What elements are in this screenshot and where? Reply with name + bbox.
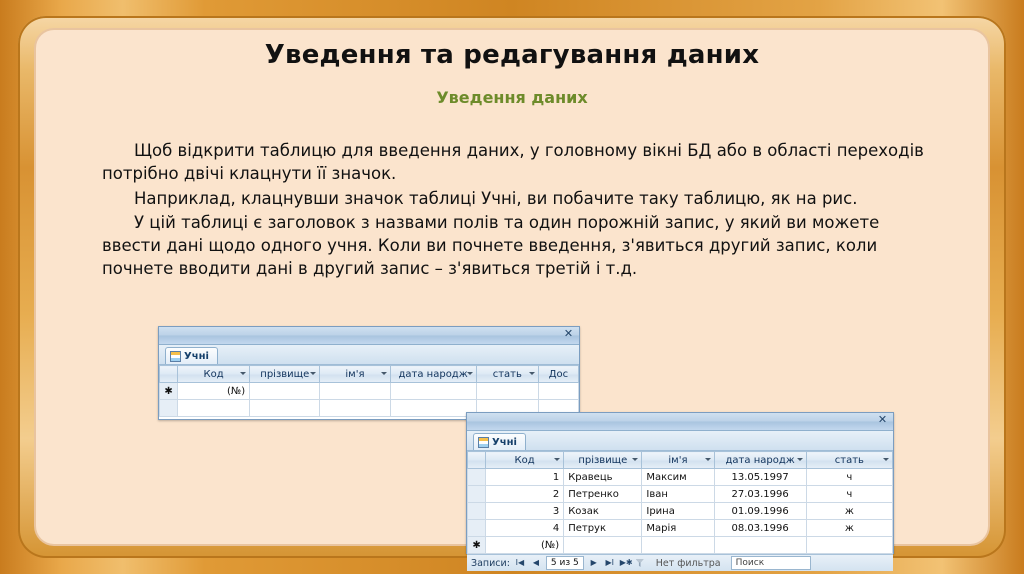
cell-prizvyshche[interactable]: Козак <box>564 503 642 520</box>
column-header-imya[interactable]: ім'я <box>320 366 390 383</box>
cell-data-narodzh[interactable]: 08.03.1996 <box>714 520 806 537</box>
row-selector[interactable] <box>468 520 486 537</box>
row-selector[interactable] <box>468 469 486 486</box>
cell-stat[interactable]: ж <box>806 520 892 537</box>
cell-kod[interactable]: 4 <box>486 520 564 537</box>
cell-dos[interactable] <box>538 383 578 400</box>
cell-data-narodzh[interactable] <box>390 383 476 400</box>
close-icon[interactable]: ✕ <box>876 414 889 427</box>
filter-icon <box>636 559 644 567</box>
records-label: Записи: <box>471 558 510 569</box>
filter-status-label[interactable]: Нет фильтра <box>656 558 721 569</box>
window-titlebar: ✕ <box>159 327 579 345</box>
cell-blank <box>178 400 250 417</box>
table-row[interactable]: 1 Кравець Максим 13.05.1997 ч <box>468 469 893 486</box>
row-selector-header <box>468 452 486 469</box>
cell-blank <box>250 400 320 417</box>
paragraph-1: Щоб відкрити таблицю для введення даних,… <box>102 140 928 186</box>
cell-prizvyshche[interactable] <box>564 537 642 554</box>
column-header-kod[interactable]: Код <box>486 452 564 469</box>
cell-stat[interactable] <box>806 537 892 554</box>
table-icon <box>170 351 181 362</box>
row-selector-blank <box>160 400 178 417</box>
window-tabstrip: Учні <box>467 431 893 451</box>
access-window-empty[interactable]: ✕ Учні Код прізвище ім'я дата нар <box>158 326 580 420</box>
access-window-filled[interactable]: ✕ Учні Код прізвище ім'я дата нар <box>466 412 894 554</box>
cell-stat[interactable]: ж <box>806 503 892 520</box>
table-row[interactable]: 2 Петренко Іван 27.03.1996 ч <box>468 486 893 503</box>
cell-data-narodzh[interactable]: 01.09.1996 <box>714 503 806 520</box>
window-titlebar: ✕ <box>467 413 893 431</box>
cell-imya[interactable]: Марія <box>642 520 714 537</box>
cell-prizvyshche[interactable]: Петренко <box>564 486 642 503</box>
table-header-row: Код прізвище ім'я дата народж стать Дос <box>160 366 579 383</box>
body-text: Щоб відкрити таблицю для введення даних,… <box>102 140 928 283</box>
tab-uchni[interactable]: Учні <box>473 433 526 450</box>
column-header-stat[interactable]: стать <box>476 366 538 383</box>
cell-imya[interactable]: Іван <box>642 486 714 503</box>
cell-stat[interactable] <box>476 383 538 400</box>
table-row[interactable]: ✱ (№) <box>468 537 893 554</box>
record-navigator[interactable]: Записи: I◀ ◀ 5 из 5 ▶ ▶I ▶✱ Нет фильтра … <box>467 554 893 571</box>
cell-prizvyshche[interactable]: Петрук <box>564 520 642 537</box>
cell-data-narodzh[interactable] <box>714 537 806 554</box>
cell-data-narodzh[interactable]: 13.05.1997 <box>714 469 806 486</box>
column-header-prizvyshche[interactable]: прізвище <box>564 452 642 469</box>
paragraph-2: Наприклад, клацнувши значок таблиці Учні… <box>102 188 928 211</box>
previous-record-button[interactable]: ◀ <box>530 557 542 569</box>
cell-kod[interactable]: 1 <box>486 469 564 486</box>
cell-prizvyshche[interactable] <box>250 383 320 400</box>
cell-imya[interactable]: Ірина <box>642 503 714 520</box>
table-row[interactable]: 3 Козак Ірина 01.09.1996 ж <box>468 503 893 520</box>
new-record-button[interactable]: ▶✱ <box>620 557 632 569</box>
column-header-stat[interactable]: стать <box>806 452 892 469</box>
close-icon[interactable]: ✕ <box>562 328 575 341</box>
tab-label: Учні <box>184 351 209 362</box>
cell-imya[interactable] <box>320 383 390 400</box>
last-record-button[interactable]: ▶I <box>604 557 616 569</box>
page-title: Уведення та редагування даних <box>36 40 988 70</box>
cell-kod[interactable]: (№) <box>486 537 564 554</box>
cell-imya[interactable]: Максим <box>642 469 714 486</box>
cell-kod[interactable]: (№) <box>178 383 250 400</box>
cell-prizvyshche[interactable]: Кравець <box>564 469 642 486</box>
table-row[interactable]: 4 Петрук Марія 08.03.1996 ж <box>468 520 893 537</box>
record-position-field[interactable]: 5 из 5 <box>546 556 584 570</box>
column-header-prizvyshche[interactable]: прізвище <box>250 366 320 383</box>
datasheet-empty[interactable]: Код прізвище ім'я дата народж стать Дос … <box>159 365 579 417</box>
page-subtitle: Уведення даних <box>36 88 988 107</box>
cell-blank <box>390 400 476 417</box>
cell-stat[interactable]: ч <box>806 486 892 503</box>
slide: Уведення та редагування даних Уведення д… <box>0 0 1024 574</box>
row-selector-new[interactable]: ✱ <box>468 537 486 554</box>
slide-canvas: Уведення та редагування даних Уведення д… <box>36 30 988 544</box>
column-header-data-narodzh[interactable]: дата народж <box>390 366 476 383</box>
datasheet-filled[interactable]: Код прізвище ім'я дата народж стать 1 Кр… <box>467 451 893 554</box>
cell-kod[interactable]: 2 <box>486 486 564 503</box>
row-selector[interactable] <box>468 503 486 520</box>
row-selector-header <box>160 366 178 383</box>
tab-label: Учні <box>492 437 517 448</box>
table-icon <box>478 437 489 448</box>
table-row[interactable]: ✱ (№) <box>160 383 579 400</box>
paragraph-3: У цій таблиці є заголовок з назвами полі… <box>102 212 928 280</box>
column-header-imya[interactable]: ім'я <box>642 452 714 469</box>
table-header-row: Код прізвище ім'я дата народж стать <box>468 452 893 469</box>
cell-blank <box>320 400 390 417</box>
column-header-data-narodzh[interactable]: дата народж <box>714 452 806 469</box>
search-input[interactable]: Поиск <box>731 556 811 570</box>
column-header-dos[interactable]: Дос <box>538 366 578 383</box>
row-selector[interactable] <box>468 486 486 503</box>
tab-uchni[interactable]: Учні <box>165 347 218 364</box>
row-selector-new[interactable]: ✱ <box>160 383 178 400</box>
column-header-kod[interactable]: Код <box>178 366 250 383</box>
next-record-button[interactable]: ▶ <box>588 557 600 569</box>
cell-stat[interactable]: ч <box>806 469 892 486</box>
first-record-button[interactable]: I◀ <box>514 557 526 569</box>
window-tabstrip: Учні <box>159 345 579 365</box>
cell-data-narodzh[interactable]: 27.03.1996 <box>714 486 806 503</box>
cell-imya[interactable] <box>642 537 714 554</box>
cell-kod[interactable]: 3 <box>486 503 564 520</box>
